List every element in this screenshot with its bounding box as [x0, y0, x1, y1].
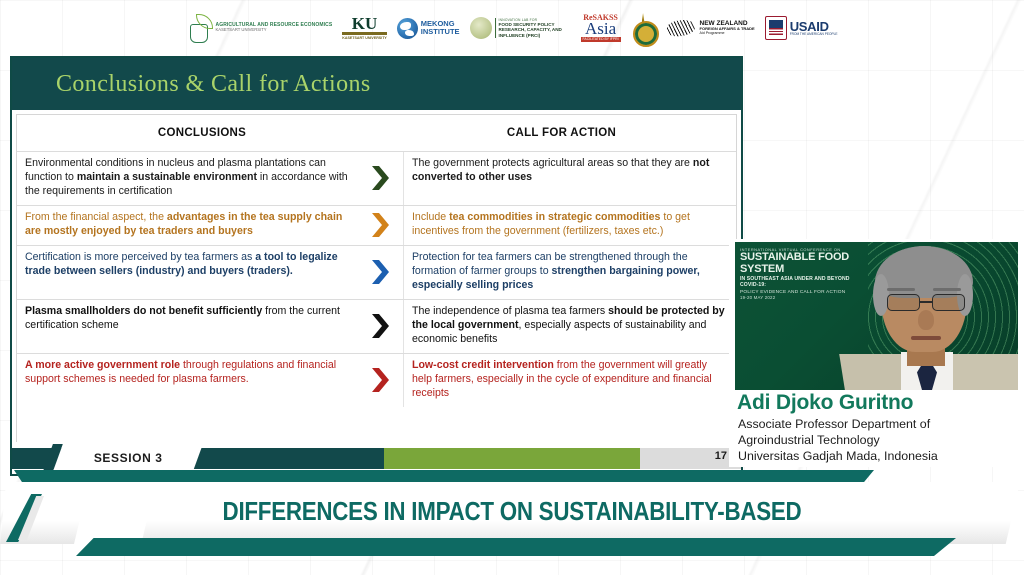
- page-number: 17: [715, 450, 727, 462]
- logo-mekong-subtitle: INSTITUTE: [421, 28, 460, 36]
- speaker-role-line2: Agroindustrial Technology: [738, 433, 1018, 449]
- table-row: Certification is more perceived by tea f…: [17, 245, 736, 299]
- table-body: Environmental conditions in nucleus and …: [17, 151, 736, 407]
- conference-line2: IN SOUTHEAST ASIA UNDER AND BEYOND COVID…: [740, 276, 866, 288]
- usaid-shield-icon: [765, 16, 787, 40]
- conclusions-table: CONCLUSIONS CALL FOR ACTION Environmenta…: [16, 114, 737, 444]
- royal-seal-icon: [631, 13, 657, 43]
- leaf-icon: [187, 13, 213, 43]
- slide-screenshot: AGRICULTURAL AND RESOURCE ECONOMICS KASE…: [0, 0, 1024, 575]
- logo-resakss-asia: ReSAKSS Asia FACILITATED BY IFPRI: [581, 8, 621, 48]
- call-for-action-cell: Protection for tea farmers can be streng…: [403, 246, 736, 299]
- table-row: Environmental conditions in nucleus and …: [17, 151, 736, 205]
- conference-line4: 19-20 MAY 2022: [740, 295, 866, 300]
- conclusion-cell: From the financial aspect, the advantage…: [17, 206, 361, 245]
- conclusion-cell: Plasma smallholders do not benefit suffi…: [17, 300, 361, 353]
- logo-new-zealand: NEW ZEALAND FOREIGN AFFAIRS & TRADE Aid …: [667, 8, 755, 48]
- logo-are-kasetsart: AGRICULTURAL AND RESOURCE ECONOMICS KASE…: [187, 8, 333, 48]
- conference-banner: INTERNATIONAL VIRTUAL CONFERENCE ON SUST…: [740, 247, 866, 300]
- conclusion-cell: A more active government role through re…: [17, 354, 361, 407]
- logo-prci: INNOVATION LAB FOR FOOD SECURITY POLICY …: [470, 8, 571, 48]
- chevron-arrow-icon: [361, 354, 403, 407]
- conference-line0: INTERNATIONAL VIRTUAL CONFERENCE ON: [740, 247, 866, 252]
- logo-ku-subtitle: KASETSART UNIVERSITY: [342, 36, 387, 40]
- table-row: From the financial aspect, the advantage…: [17, 205, 736, 245]
- globe-icon: [397, 18, 418, 39]
- eyeglasses-icon: [887, 294, 965, 311]
- call-for-action-cell: Include tea commodities in strategic com…: [403, 206, 736, 245]
- logo-royal-seal: [631, 8, 657, 48]
- bottom-banner: DIFFERENCES IN IMPACT ON SUSTAINABILITY-…: [0, 470, 1024, 575]
- slide-title: Conclusions & Call for Actions: [56, 71, 371, 98]
- call-for-action-cell: The government protects agricultural are…: [403, 152, 736, 205]
- logo-prci-subtitle: FOOD SECURITY POLICY RESEARCH, CAPACITY,…: [499, 22, 571, 38]
- speaker-role-line1: Associate Professor Department of: [738, 417, 1018, 433]
- table-row: A more active government role through re…: [17, 353, 736, 407]
- logo-nz-footer: Aid Programme: [700, 32, 755, 36]
- chevron-arrow-icon: [361, 300, 403, 353]
- slide-header: Conclusions & Call for Actions: [12, 58, 741, 110]
- speaker-role: Associate Professor Department of Agroin…: [738, 417, 1018, 465]
- chevron-arrow-icon: [361, 152, 403, 205]
- column-header-call-for-action: CALL FOR ACTION: [387, 127, 736, 139]
- logo-resakss-footer: FACILITATED BY IFPRI: [581, 37, 621, 42]
- lens-right: [932, 294, 965, 311]
- fern-icon: [667, 17, 697, 39]
- logo-ku-title: KU: [342, 16, 387, 31]
- session-label: SESSION 3: [94, 451, 163, 465]
- column-header-conclusions: CONCLUSIONS: [17, 127, 387, 139]
- conclusion-cell: Environmental conditions in nucleus and …: [17, 152, 361, 205]
- call-for-action-cell: Low-cost credit intervention from the go…: [403, 354, 736, 407]
- banner-teal-bottom: [76, 538, 956, 556]
- logo-are-subtitle: KASETSART UNIVERSITY: [216, 28, 333, 32]
- table-row: Plasma smallholders do not benefit suffi…: [17, 299, 736, 353]
- speaker-panel: INTERNATIONAL VIRTUAL CONFERENCE ON SUST…: [729, 239, 1024, 467]
- logo-mekong-institute: MEKONG INSTITUTE: [397, 8, 460, 48]
- session-tag: SESSION 3: [53, 444, 203, 471]
- speaker-name: Adi Djoko Guritno: [737, 391, 913, 415]
- table-header-row: CONCLUSIONS CALL FOR ACTION: [17, 115, 736, 151]
- logo-ku: KU KASETSART UNIVERSITY: [342, 8, 387, 48]
- logo-usaid-title: USAID: [790, 20, 838, 34]
- conference-line1: SUSTAINABLE FOOD SYSTEM: [740, 252, 866, 275]
- eyebrow-left: [887, 288, 915, 291]
- chevron-arrow-icon: [361, 206, 403, 245]
- banner-title: DIFFERENCES IN IMPACT ON SUSTAINABILITY-…: [72, 496, 953, 527]
- call-for-action-cell: The independence of plasma tea farmers s…: [403, 300, 736, 353]
- logo-usaid-subtitle: FROM THE AMERICAN PEOPLE: [790, 33, 838, 36]
- speaker-portrait: [853, 250, 1003, 390]
- speaker-video[interactable]: INTERNATIONAL VIRTUAL CONFERENCE ON SUST…: [735, 242, 1018, 390]
- logo-usaid: USAID FROM THE AMERICAN PEOPLE: [765, 8, 838, 48]
- logo-resakss-asia-word: Asia: [581, 22, 621, 36]
- glasses-bridge: [920, 301, 932, 303]
- presentation-slide: Conclusions & Call for Actions CONCLUSIO…: [10, 56, 743, 476]
- eyebrow-right: [933, 288, 961, 291]
- conclusion-cell: Certification is more perceived by tea f…: [17, 246, 361, 299]
- lens-left: [887, 294, 920, 311]
- footer-progress-green: [384, 448, 640, 469]
- speaker-role-line3: Universitas Gadjah Mada, Indonesia: [738, 449, 1018, 465]
- mouth: [911, 336, 941, 340]
- nose: [918, 310, 934, 330]
- partner-logo-strip: AGRICULTURAL AND RESOURCE ECONOMICS KASE…: [0, 0, 1024, 56]
- wheat-globe-icon: [470, 17, 492, 39]
- chevron-arrow-icon: [361, 246, 403, 299]
